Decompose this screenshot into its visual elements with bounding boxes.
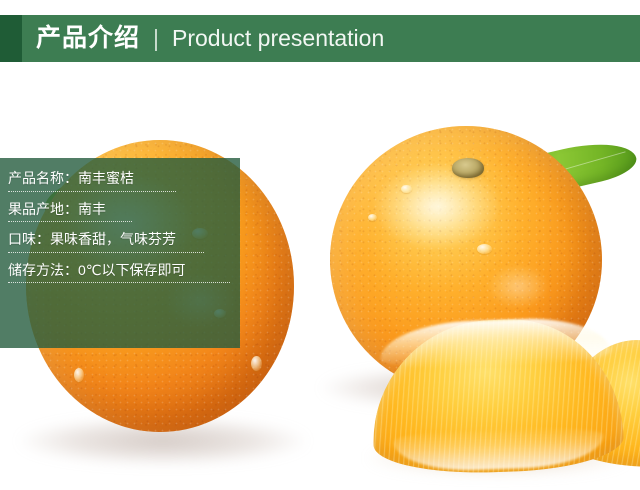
- header-accent-strip: [0, 15, 22, 62]
- info-row-taste: 口味：果味香甜，气味芬芳: [8, 231, 230, 253]
- info-divider: [8, 221, 132, 222]
- water-droplet: [74, 368, 84, 382]
- segment-front: [369, 316, 624, 477]
- header-title-en: Product presentation: [172, 27, 384, 50]
- info-text: 口味：果味香甜，气味芬芳: [8, 231, 230, 248]
- product-presentation-banner: 产品名称：南丰蜜桔 果品产地：南丰 口味：果味香甜，气味芬芳 储存方法：0℃以下…: [0, 0, 640, 490]
- water-droplet: [477, 244, 492, 254]
- info-text: 果品产地：南丰: [8, 201, 230, 218]
- info-row-storage: 储存方法：0℃以下保存即可: [8, 262, 230, 284]
- info-row-origin: 果品产地：南丰: [8, 201, 230, 223]
- highlight: [374, 164, 499, 250]
- header-title-cn: 产品介绍: [36, 26, 140, 51]
- highlight: [488, 265, 548, 308]
- section-header-bar: 产品介绍 | Product presentation: [0, 15, 640, 62]
- info-row-product-name: 产品名称：南丰蜜桔: [8, 170, 230, 192]
- info-divider: [8, 282, 230, 283]
- product-info-panel: 产品名称：南丰蜜桔 果品产地：南丰 口味：果味香甜，气味芬芳 储存方法：0℃以下…: [0, 158, 240, 348]
- info-text: 产品名称：南丰蜜桔: [8, 170, 230, 187]
- water-droplet: [401, 185, 412, 193]
- info-text: 储存方法：0℃以下保存即可: [8, 262, 230, 279]
- calyx-right: [452, 158, 484, 178]
- header-divider: |: [153, 27, 159, 50]
- info-divider: [8, 252, 204, 253]
- header-title-group: 产品介绍 | Product presentation: [36, 26, 384, 51]
- info-divider: [8, 191, 176, 192]
